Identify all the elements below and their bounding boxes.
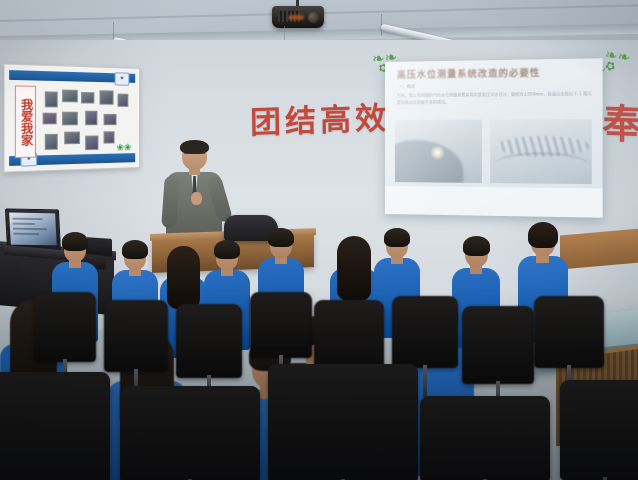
chair	[250, 292, 312, 358]
board-photo	[85, 135, 98, 150]
board-title: 我爱我家	[15, 85, 36, 158]
hair	[384, 228, 410, 247]
board-photo	[45, 134, 58, 150]
chair	[120, 386, 260, 480]
presenter	[164, 142, 226, 238]
hair	[463, 236, 490, 256]
projector-glow	[288, 15, 304, 20]
chair	[392, 296, 458, 368]
glasses-icon	[184, 153, 205, 159]
hair	[62, 232, 88, 251]
classroom-photo: ★ ★ 我爱我家 ❀❀ 团结高效 奉 ❧❧ ✿❧ ❧❧ ❧✿ 高压水位测量系统改…	[0, 0, 638, 480]
wall-calligraphy-main: 团结高效	[250, 93, 391, 143]
wall-calligraphy-edge: 奉	[602, 91, 638, 150]
presenter-hand	[191, 192, 202, 205]
ceiling-projector-icon	[272, 6, 324, 28]
board-photo	[62, 90, 78, 103]
board-photo	[62, 112, 78, 126]
slide-pipe-shape	[395, 140, 464, 183]
presenter-hair	[180, 140, 209, 154]
board-badge-icon: ★	[115, 72, 130, 86]
board-photo	[81, 92, 94, 104]
slide-body-text: 目前，我公司的锅炉汽包水位测量装置采用的是差压式水位计，量程为±300mm，投运…	[397, 90, 592, 106]
chair	[560, 380, 638, 480]
board-photo	[104, 114, 117, 125]
board-photo	[43, 113, 57, 125]
chair	[420, 396, 550, 480]
chair	[268, 364, 418, 480]
chair	[534, 296, 604, 368]
laptop-screen	[9, 213, 57, 246]
clover-icon: ❀❀	[116, 143, 131, 153]
board-photo	[99, 90, 113, 105]
slide-weld-arc	[494, 152, 589, 177]
chair	[34, 292, 96, 362]
board-photo	[85, 111, 97, 126]
slide-image-right	[490, 119, 592, 184]
projection-screen: 高压水位测量系统改造的必要性 一、概述 目前，我公司的锅炉汽包水位测量装置采用的…	[385, 58, 603, 217]
slide-image-left	[395, 120, 482, 183]
slide-subheading: 一、概述	[399, 84, 415, 90]
chair	[462, 306, 534, 384]
board-photo	[104, 131, 115, 143]
chair	[176, 304, 242, 378]
board-photo	[45, 91, 58, 107]
chair	[0, 372, 110, 480]
hair	[214, 240, 240, 259]
hair	[167, 246, 200, 309]
chair	[104, 300, 168, 372]
board-photo	[64, 132, 80, 145]
hair	[268, 228, 294, 247]
hair	[337, 236, 371, 301]
right-wooden-desk	[560, 229, 638, 270]
slide-title: 高压水位测量系统改造的必要性	[397, 65, 590, 81]
hair	[122, 240, 148, 259]
screen-bottom-band	[385, 186, 603, 218]
bulletin-board: ★ ★ 我爱我家 ❀❀	[3, 63, 140, 172]
slide-highlight-spot	[431, 146, 444, 159]
hair	[528, 222, 558, 248]
projector-lens	[308, 12, 319, 23]
board-photo	[118, 94, 129, 107]
chair-leg	[423, 365, 427, 397]
